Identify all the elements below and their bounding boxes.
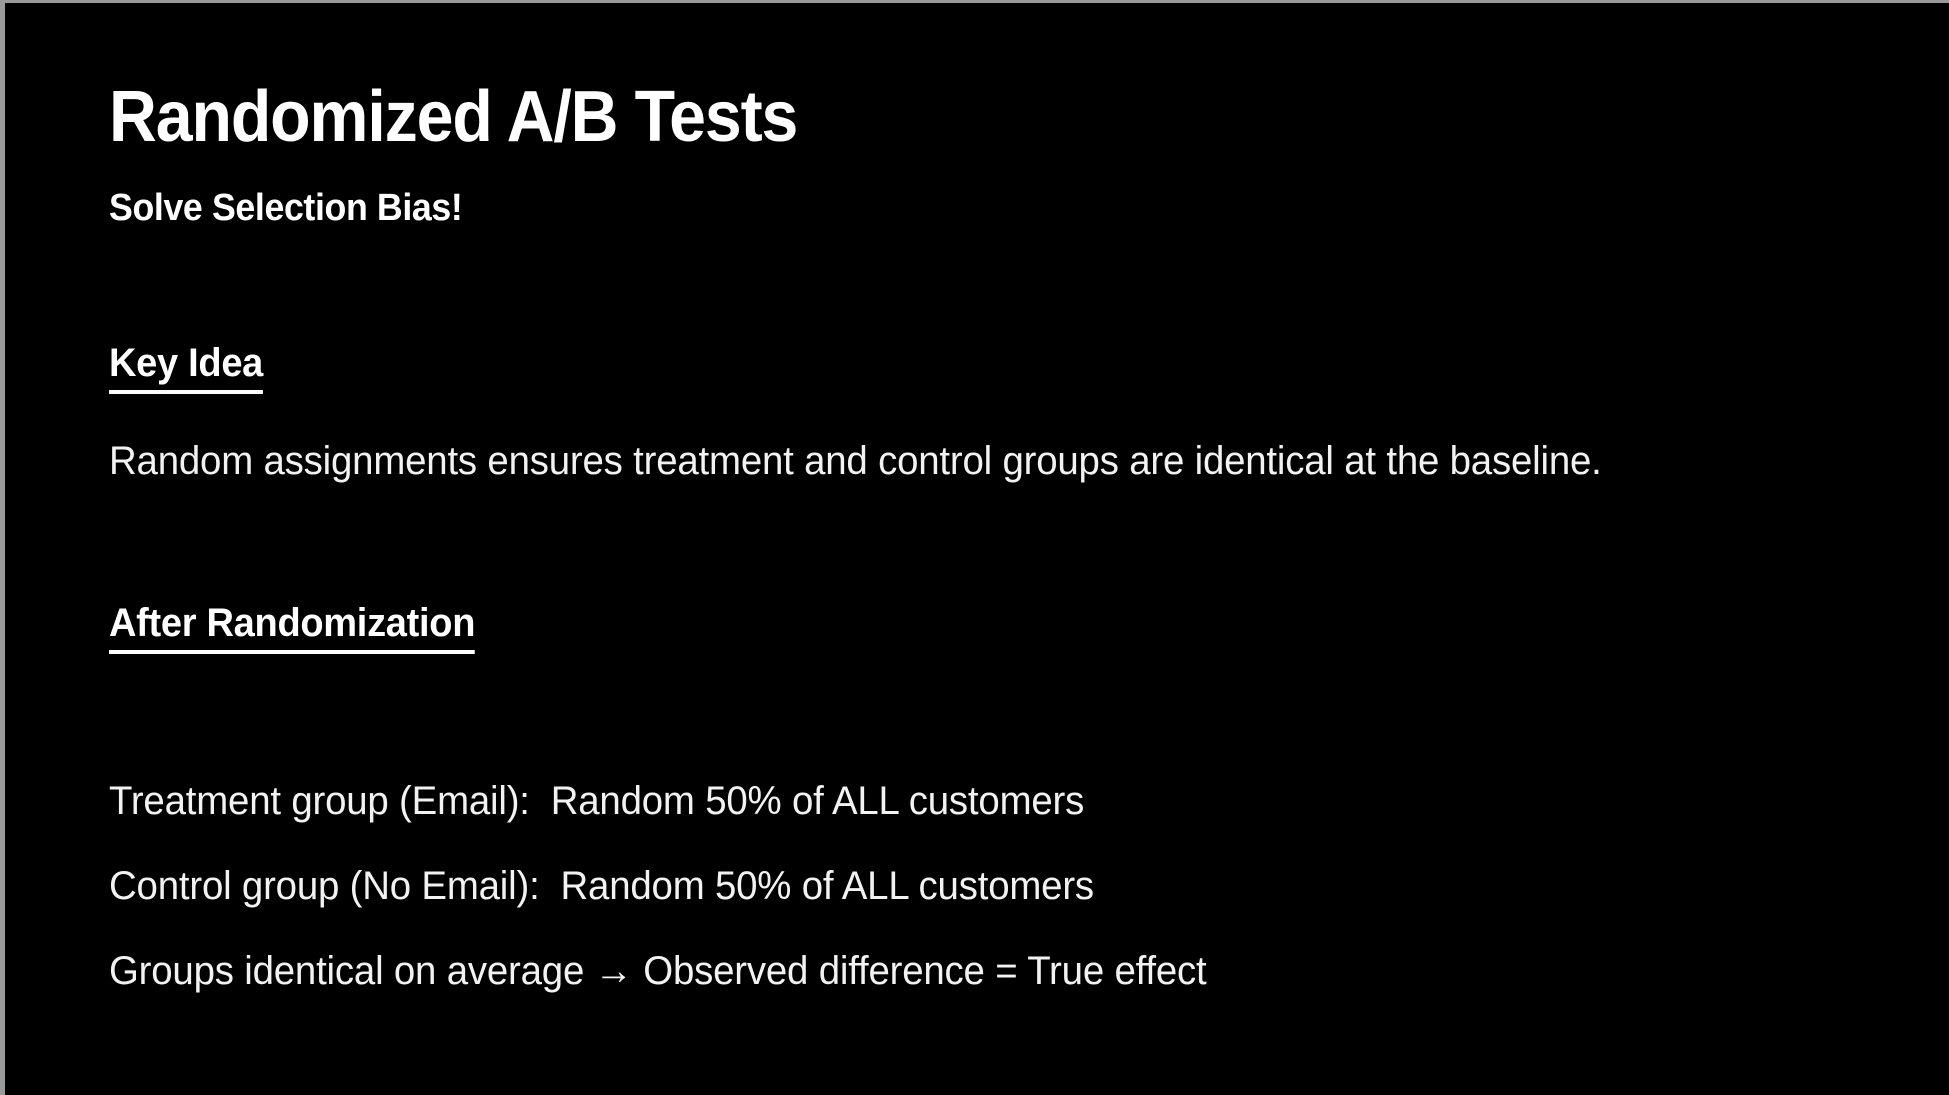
page-subtitle: Solve Selection Bias! [109,189,462,227]
section-heading-after-randomization: After Randomization [109,603,475,654]
list-item: Treatment group (Email): Random 50% of A… [109,759,1741,844]
list-item: Control group (No Email): Random 50% of … [109,844,1741,929]
after-randomization-list: Treatment group (Email): Random 50% of A… [109,759,1809,1014]
key-idea-paragraph: Random assignments ensures treatment and… [109,427,1741,496]
slide-content: Randomized A/B Tests Solve Selection Bia… [109,3,1889,1095]
section-heading-key-idea-text: Key Idea [109,343,263,394]
page-title: Randomized A/B Tests [109,81,797,153]
slide-canvas: Randomized A/B Tests Solve Selection Bia… [5,3,1949,1095]
section-heading-key-idea: Key Idea [109,343,263,394]
list-item: Groups identical on average → Observed d… [109,929,1741,1014]
section-heading-after-randomization-text: After Randomization [109,603,475,654]
